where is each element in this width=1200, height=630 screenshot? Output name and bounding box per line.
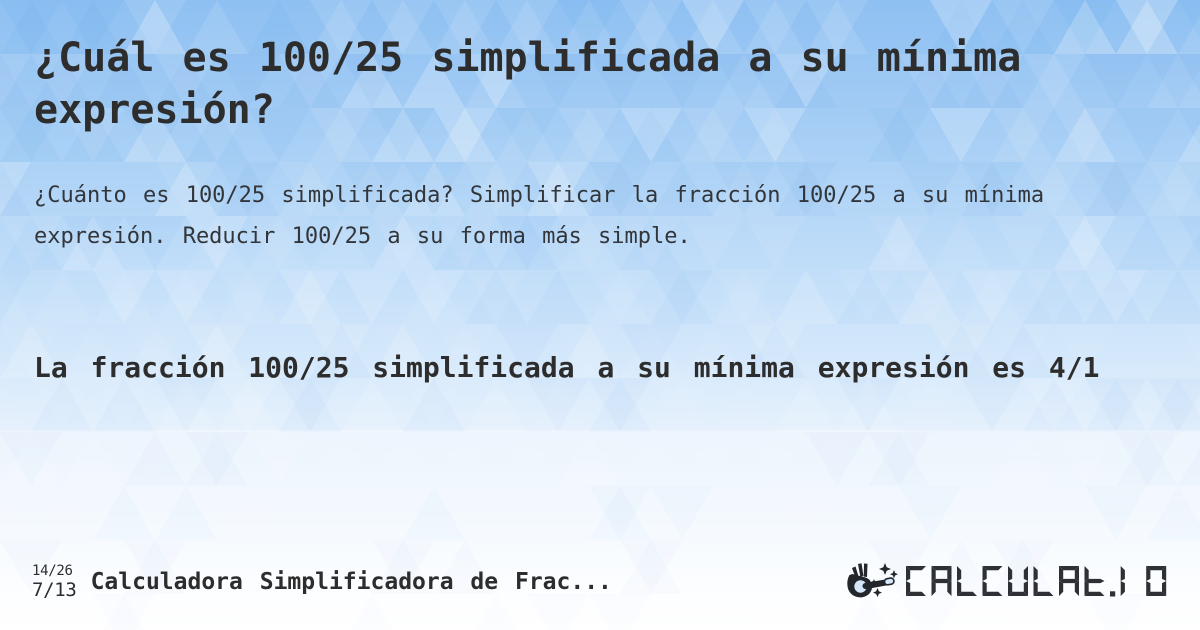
card-content: ¿Cuál es 100/25 simplificada a su mínima… bbox=[0, 0, 1200, 630]
site-title: Calculadora Simplificadora de Frac... bbox=[91, 569, 612, 595]
brand-wordmark bbox=[904, 562, 1174, 602]
answer-statement: La fracción 100/25 simplificada a su mín… bbox=[34, 344, 1160, 392]
share-card: ¿Cuál es 100/25 simplificada a su mínima… bbox=[0, 0, 1200, 630]
fraction-icon-denominator: 7/13 bbox=[32, 581, 77, 600]
page-title: ¿Cuál es 100/25 simplificada a su mínima… bbox=[34, 32, 1166, 136]
fraction-icon-numerator: 14/26 bbox=[32, 564, 73, 578]
hand-magic-wand-icon bbox=[844, 558, 900, 606]
page-description: ¿Cuánto es 100/25 simplificada? Simplifi… bbox=[34, 175, 1166, 257]
brand-logo[interactable] bbox=[844, 558, 1174, 606]
footer: 14/26 7/13 Calculadora Simplificadora de… bbox=[0, 556, 1200, 608]
fraction-simplify-icon: 14/26 7/13 bbox=[32, 564, 77, 600]
